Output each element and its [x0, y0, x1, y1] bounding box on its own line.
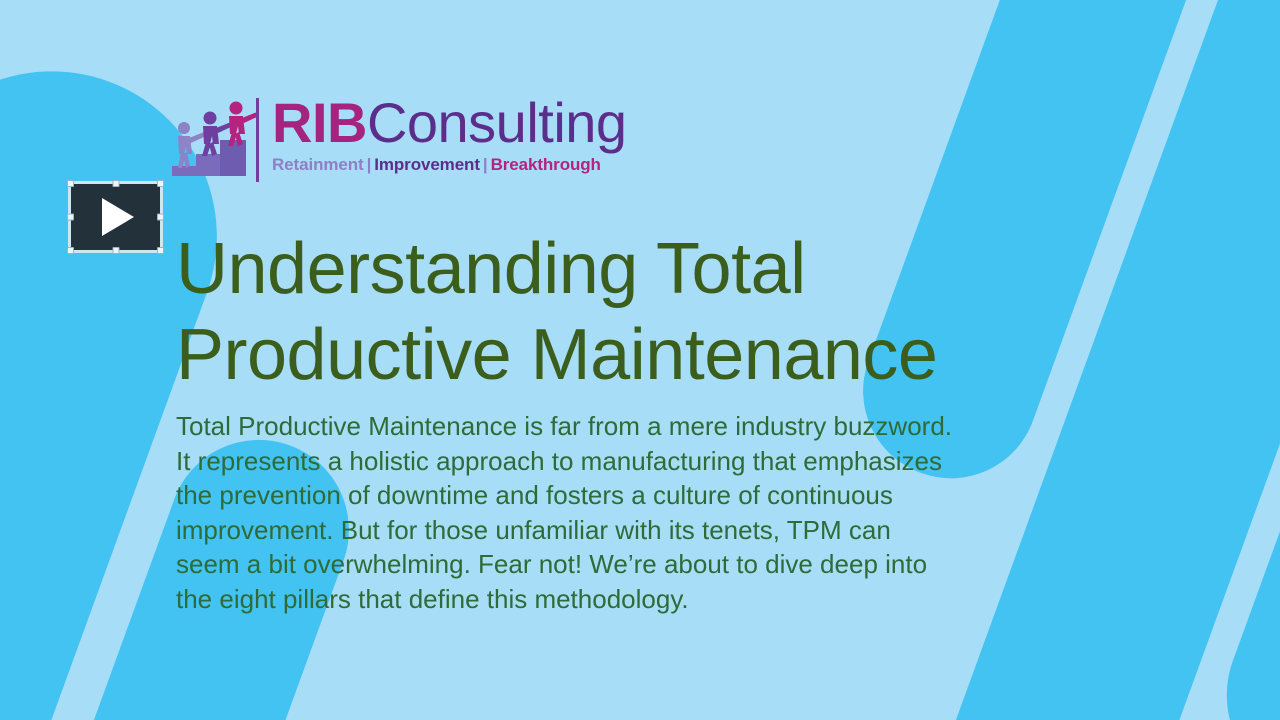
- tagline-separator-2: |: [480, 155, 491, 174]
- slide-title-line-1: Understanding Total: [176, 226, 1076, 312]
- tagline-retainment: Retainment: [272, 155, 364, 174]
- video-play-button[interactable]: [68, 181, 163, 253]
- people-climbing-steps-icon: [168, 96, 260, 184]
- body-line: improvement. But for those unfamiliar wi…: [176, 513, 1071, 548]
- selection-handle-nw[interactable]: [67, 180, 74, 187]
- body-line: the eight pillars that define this metho…: [176, 582, 1071, 617]
- company-logo: RIBConsulting Retainment|Improvement|Bre…: [168, 96, 650, 186]
- logo-word-rib: RIB: [272, 91, 367, 154]
- logo-word-consulting: Consulting: [367, 91, 627, 154]
- logo-tagline: Retainment|Improvement|Breakthrough: [272, 155, 627, 175]
- selection-handle-se[interactable]: [157, 247, 164, 254]
- decor-bar-accent: [1199, 0, 1280, 720]
- body-line: It represents a holistic approach to man…: [176, 444, 1071, 479]
- body-line: the prevention of downtime and fosters a…: [176, 478, 1071, 513]
- slide-title-line-2: Productive Maintenance: [176, 312, 1076, 398]
- slide-title: Understanding Total Productive Maintenan…: [176, 226, 1076, 398]
- selection-handle-w[interactable]: [67, 214, 74, 221]
- body-line: Total Productive Maintenance is far from…: [176, 409, 1071, 444]
- selection-handle-sw[interactable]: [67, 247, 74, 254]
- logo-text: RIBConsulting Retainment|Improvement|Bre…: [264, 92, 627, 175]
- body-line: seem a bit overwhelming. Fear not! We’re…: [176, 547, 1071, 582]
- selection-handle-ne[interactable]: [157, 180, 164, 187]
- presentation-slide: RIBConsulting Retainment|Improvement|Bre…: [0, 0, 1280, 720]
- selection-handle-e[interactable]: [157, 214, 164, 221]
- tagline-separator-1: |: [364, 155, 375, 174]
- slide-body-text: Total Productive Maintenance is far from…: [176, 409, 1071, 616]
- tagline-improvement: Improvement: [374, 155, 480, 174]
- tagline-breakthrough: Breakthrough: [491, 155, 601, 174]
- play-icon: [102, 198, 134, 236]
- selection-handle-n[interactable]: [112, 180, 119, 187]
- selection-handle-s[interactable]: [112, 247, 119, 254]
- logo-wordmark: RIBConsulting: [272, 92, 627, 154]
